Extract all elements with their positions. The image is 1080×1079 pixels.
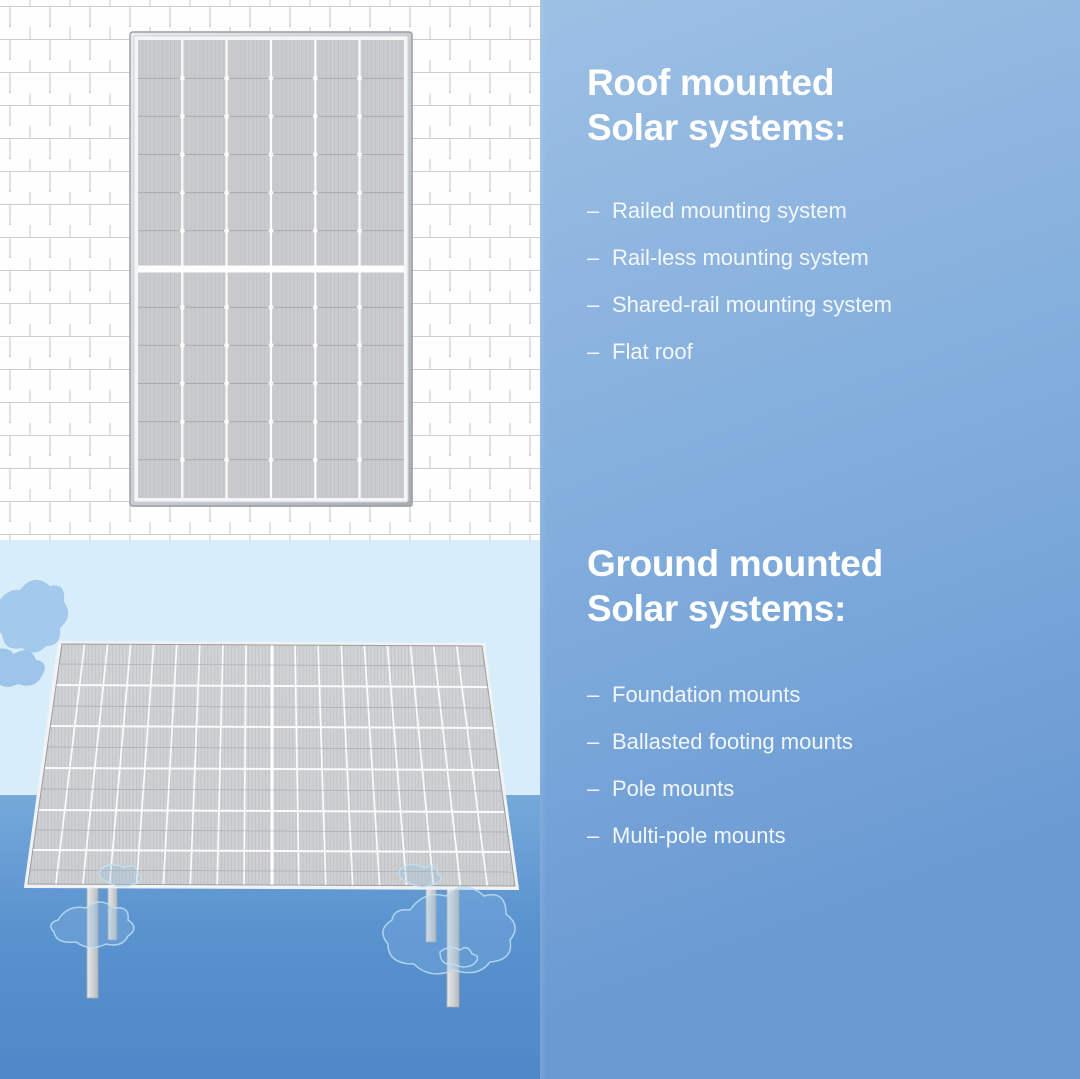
dash-icon: – [587, 728, 612, 756]
list-item-label: Shared-rail mounting system [612, 291, 1057, 319]
dash-icon: – [587, 775, 612, 803]
list-item-label: Multi-pole mounts [612, 822, 1057, 850]
dash-icon: – [587, 244, 612, 272]
roof-mounted-list: – Railed mounting system – Rail-less mou… [587, 197, 1057, 366]
ground-mounted-heading: Ground mounted Solar systems: [587, 541, 1057, 631]
ground-mounted-list: – Foundation mounts – Ballasted footing … [587, 681, 1057, 850]
ground-mounted-text-block: Ground mounted Solar systems: – Foundati… [587, 541, 1057, 869]
list-item-label: Flat roof [612, 338, 1057, 366]
dash-icon: – [587, 822, 612, 850]
list-item: – Foundation mounts [587, 681, 1057, 709]
roof-mounted-heading: Roof mounted Solar systems: [587, 60, 1057, 150]
roof-solar-panel [129, 31, 413, 507]
list-item-label: Pole mounts [612, 775, 1057, 803]
ground-mounted-scene [0, 540, 540, 1079]
roof-mounted-text-block: Roof mounted Solar systems: – Railed mou… [587, 60, 1057, 385]
list-item-label: Rail-less mounting system [612, 244, 1057, 272]
list-item: – Multi-pole mounts [587, 822, 1057, 850]
list-item-label: Ballasted footing mounts [612, 728, 1057, 756]
list-item: – Ballasted footing mounts [587, 728, 1057, 756]
dash-icon: – [587, 681, 612, 709]
list-item-label: Foundation mounts [612, 681, 1057, 709]
list-item-label: Railed mounting system [612, 197, 1057, 225]
list-item: – Railed mounting system [587, 197, 1057, 225]
list-item: – Rail-less mounting system [587, 244, 1057, 272]
illustration-column [0, 0, 540, 1079]
list-item: – Flat roof [587, 338, 1057, 366]
dash-icon: – [587, 291, 612, 319]
list-item: – Pole mounts [587, 775, 1057, 803]
array-module-surface [20, 640, 525, 892]
solar-mounting-systems-infographic: Roof mounted Solar systems: – Railed mou… [0, 0, 1080, 1079]
list-item: – Shared-rail mounting system [587, 291, 1057, 319]
roof-mounted-scene [0, 0, 540, 540]
dash-icon: – [587, 197, 612, 225]
dash-icon: – [587, 338, 612, 366]
text-column: Roof mounted Solar systems: – Railed mou… [540, 0, 1080, 1079]
ground-solar-array [0, 540, 540, 1079]
